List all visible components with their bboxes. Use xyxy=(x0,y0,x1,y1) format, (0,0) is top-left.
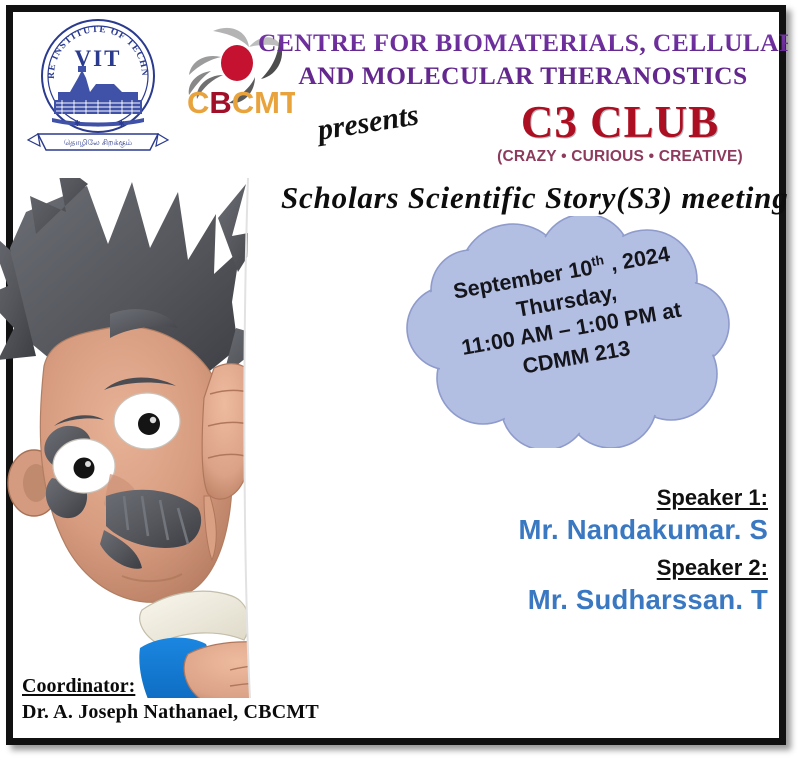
svg-text:✱: ✱ xyxy=(74,119,81,128)
club-heading-block: C3 CLUB (CRAZY • CURIOUS • CREATIVE) xyxy=(470,100,770,166)
character-board-occluder xyxy=(245,178,322,698)
meeting-title: Scholars Scientific Story(S3) meeting xyxy=(281,180,789,216)
coordinator-block: Coordinator: Dr. A. Joseph Nathanael, CB… xyxy=(22,673,319,726)
cbcmt-center-dot xyxy=(221,45,253,81)
club-name: C3 CLUB xyxy=(470,100,770,146)
event-details-cloud: September 10th , 2024 Thursday, 11:00 AM… xyxy=(395,216,735,448)
coordinator-label: Coordinator: xyxy=(22,673,319,699)
clay-scientist-character xyxy=(0,178,322,698)
speaker-2-name: Mr. Sudharssan. T xyxy=(338,582,768,618)
poster-canvas: VELLORE INSTITUTE OF TECHNOLOGY VIT ✱ ✱ … xyxy=(0,0,798,760)
svg-text:✱: ✱ xyxy=(118,119,125,128)
vit-logo: VELLORE INSTITUTE OF TECHNOLOGY VIT ✱ ✱ … xyxy=(22,14,174,156)
speaker-1-name: Mr. Nandakumar. S xyxy=(338,512,768,548)
speakers-block: Speaker 1: Mr. Nandakumar. S Speaker 2: … xyxy=(338,484,768,624)
page-title: CENTRE FOR BIOMATERIALS, CELLULAR AND MO… xyxy=(258,26,788,92)
coordinator-name: Dr. A. Joseph Nathanael, CBCMT xyxy=(22,699,319,726)
club-tagline: (CRAZY • CURIOUS • CREATIVE) xyxy=(470,148,770,166)
vit-banner-text: தொழிலே சிறக்கும் xyxy=(64,138,132,148)
page-title-line-2: AND MOLECULAR THERANOSTICS xyxy=(258,59,788,92)
page-title-line-1: CENTRE FOR BIOMATERIALS, CELLULAR xyxy=(258,26,788,59)
speaker-2-label: Speaker 2: xyxy=(338,554,768,582)
speaker-1-label: Speaker 1: xyxy=(338,484,768,512)
